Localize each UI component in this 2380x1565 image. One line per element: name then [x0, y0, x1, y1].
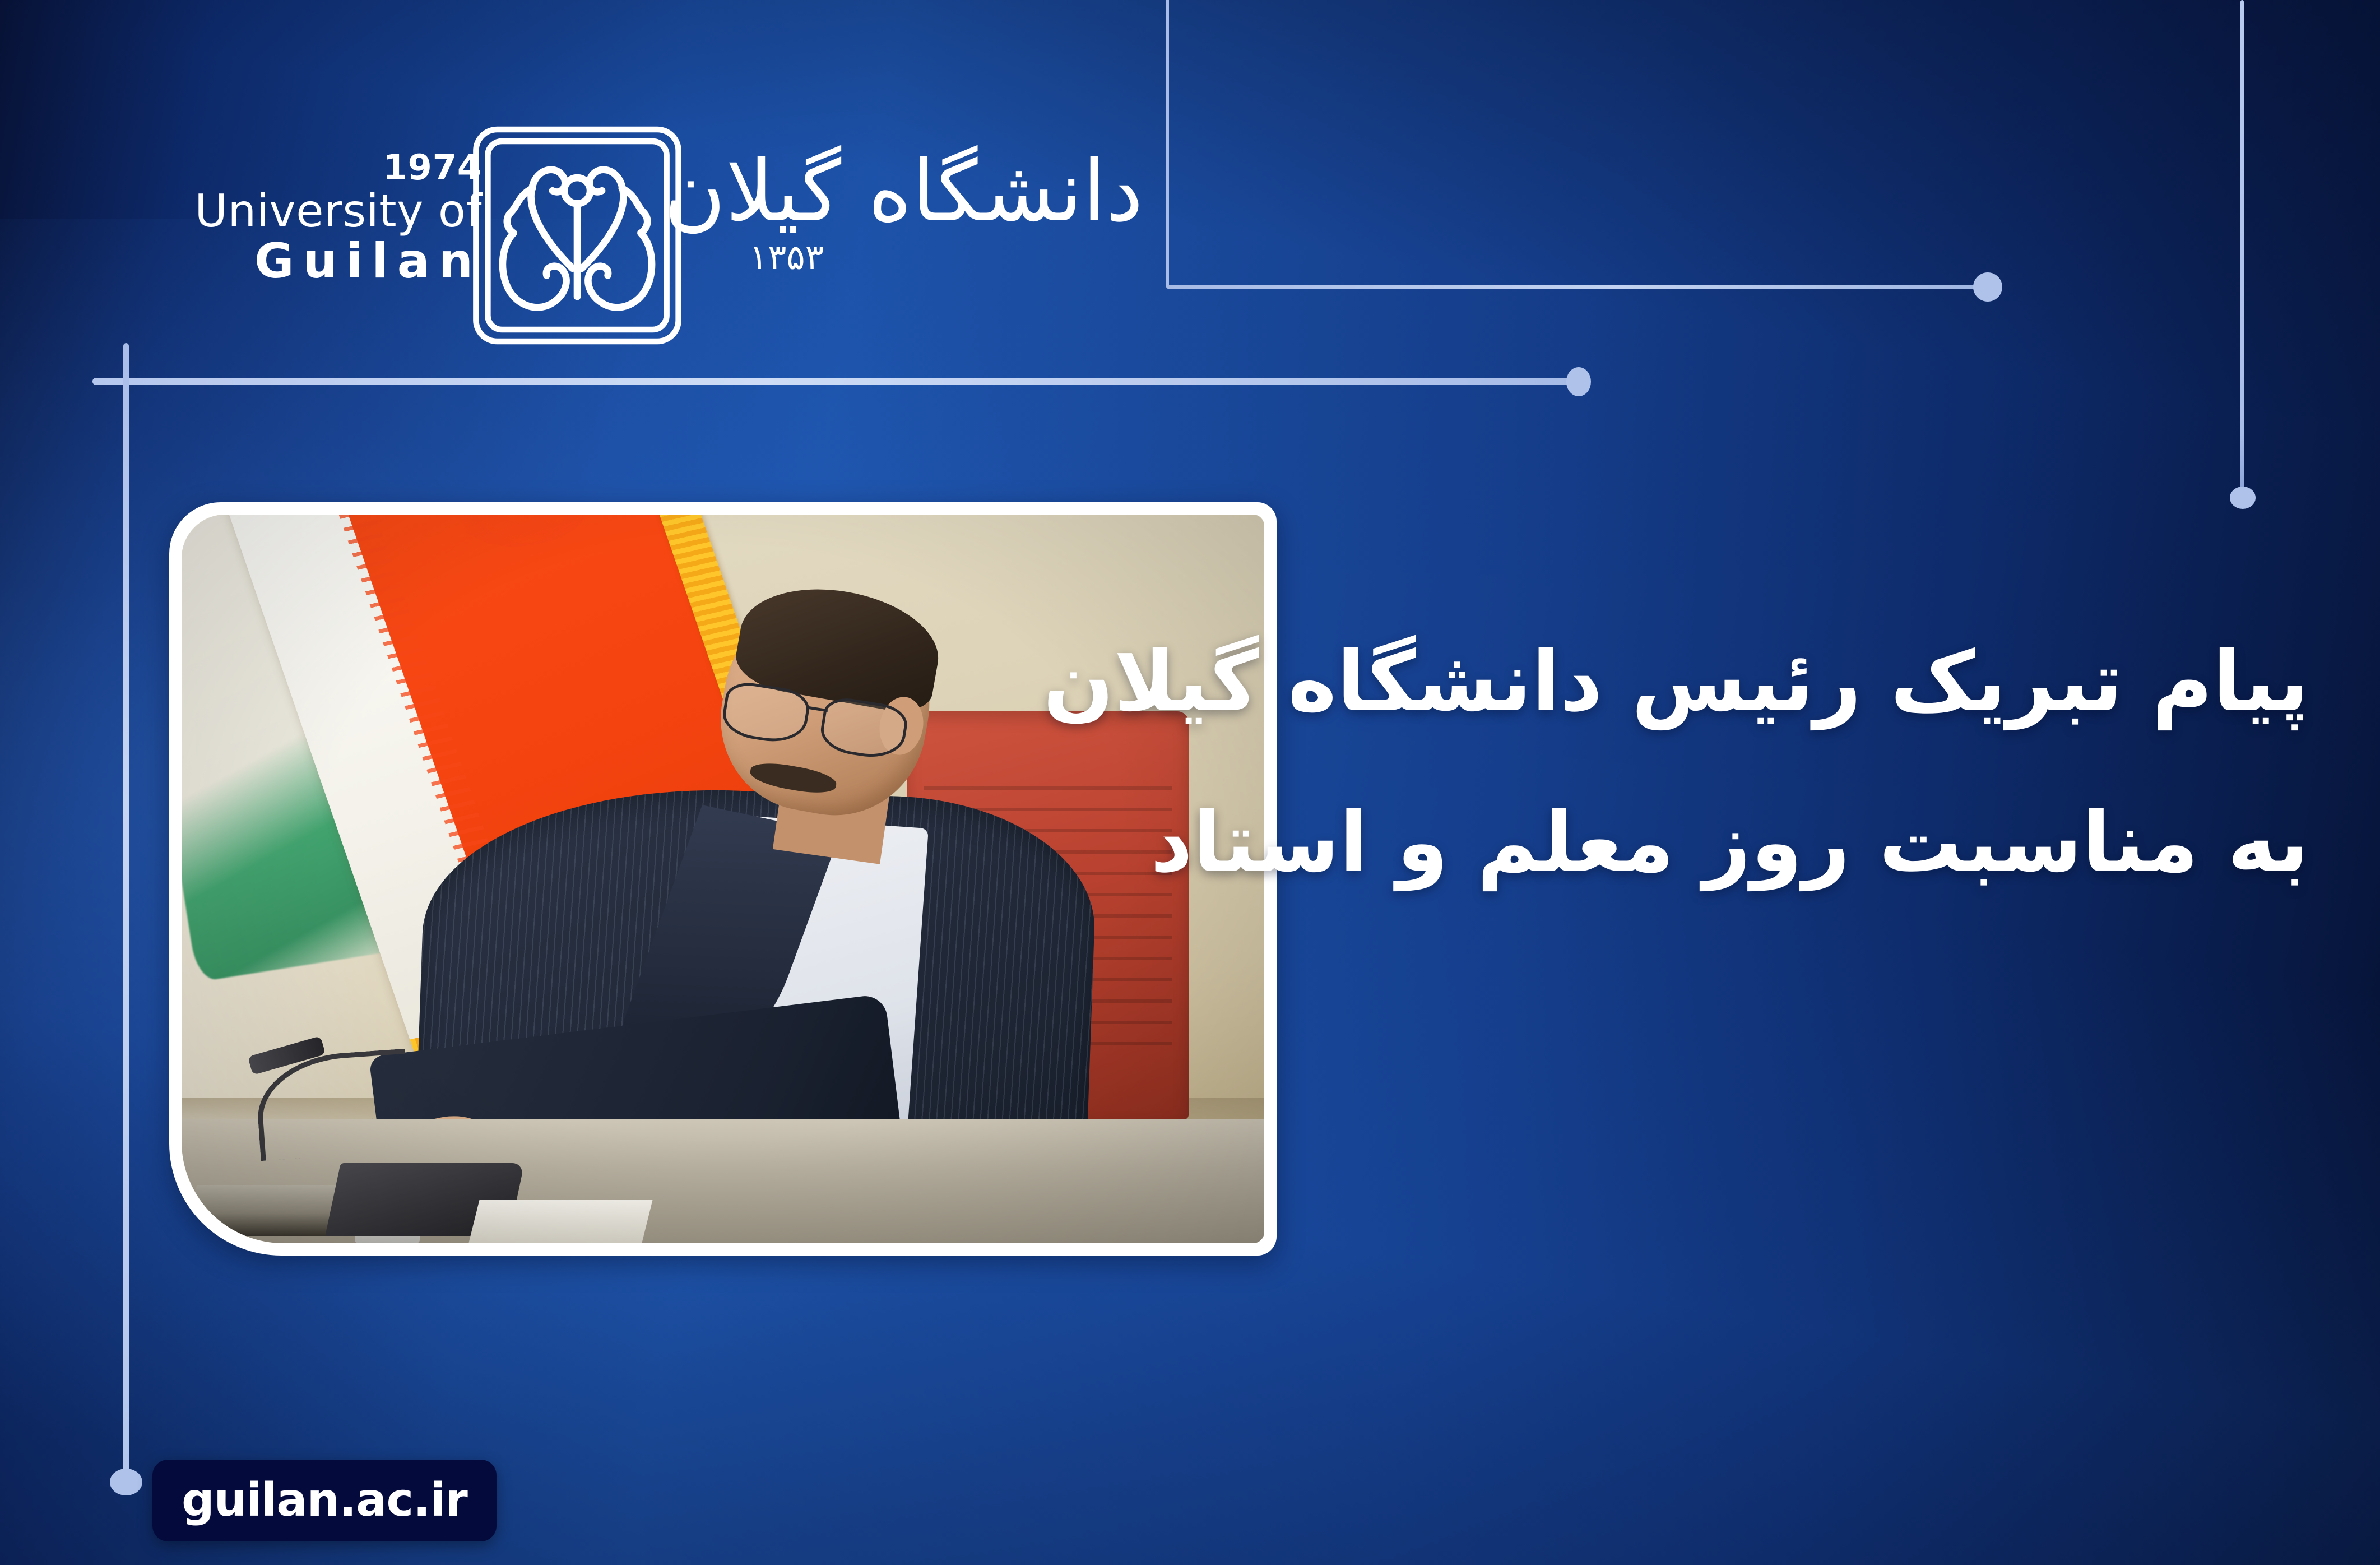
decor-line-left-horizontal [92, 378, 1576, 385]
photo-book [188, 1185, 349, 1236]
decor-dot-top-right [1973, 272, 2002, 302]
university-logo: 1974 University of Guilan [168, 118, 1154, 353]
logo-name-en-line1: University of [168, 188, 482, 234]
photo-paper [468, 1200, 653, 1243]
headline-line-1: پیام تبریک رئیس دانشگاه گیلان [1295, 638, 2309, 726]
headline-line-2: به مناسبت روز معلم و استاد [1295, 799, 2309, 887]
website-url-text: guilan.ac.ir [182, 1478, 467, 1524]
logo-persian-block: دانشگاه گیلان ۱۳۵۳ [695, 127, 1143, 351]
decor-dot-right [2230, 487, 2256, 509]
photo-card [169, 502, 1277, 1256]
banner-canvas: 1974 University of Guilan [0, 0, 2380, 1565]
decor-dot-left-horizontal-end [1566, 367, 1591, 396]
logo-year-persian: ۱۳۵۳ [749, 237, 824, 277]
logo-name-fa: دانشگاه گیلان [664, 141, 1143, 242]
decor-line-left-vertical [123, 343, 129, 1487]
photo-image [182, 515, 1264, 1243]
guilan-butterfly-emblem-icon [460, 118, 695, 353]
headline-block: پیام تبریک رئیس دانشگاه گیلان به مناسبت … [1295, 638, 2309, 887]
decor-line-top-right-horizontal [1166, 285, 1989, 289]
decor-line-right-vertical [2240, 0, 2244, 489]
logo-year-gregorian: 1974 [168, 150, 482, 185]
logo-english-block: 1974 University of Guilan [168, 150, 482, 288]
website-url-badge[interactable]: guilan.ac.ir [152, 1460, 497, 1541]
logo-name-en-line2: Guilan [168, 234, 482, 288]
decor-line-top-right-vertical [1166, 0, 1169, 287]
decor-dot-left-bottom [110, 1469, 142, 1495]
